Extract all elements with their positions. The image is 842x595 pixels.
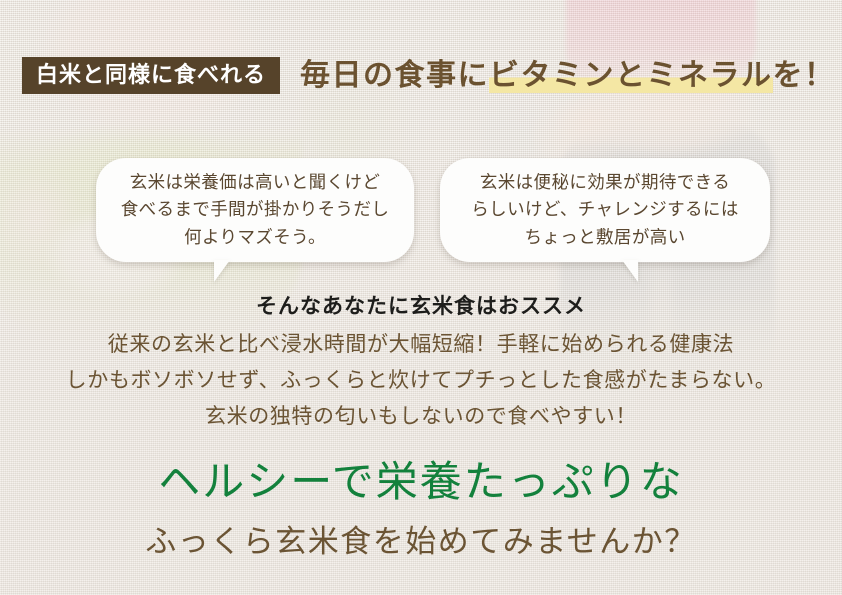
bubble-line: 玄米は便秘に効果が期待できる <box>471 169 738 196</box>
header-row: 白米と同様に食べれる 毎日の食事にビタミンとミネラルを！ <box>0 57 842 94</box>
bubble-line: 何よりマズそう。 <box>121 224 390 251</box>
speech-bubble-left: 玄米は栄養価は高いと聞くけど 食べるまで手間が掛かりそうだし 何よりマズそう。 <box>96 158 414 262</box>
bubble-line: 食べるまで手間が掛かりそうだし <box>121 196 390 223</box>
bubble-line: らしいけど、チャレンジするには <box>471 196 738 223</box>
headline-prefix: 毎日の食事に <box>300 59 489 92</box>
body-line-1: 従来の玄米と比べ浸水時間が大幅短縮！手軽に始められる健康法 <box>0 333 842 357</box>
headline-suffix: を！ <box>773 59 836 92</box>
badge-white-rice: 白米と同様に食べれる <box>22 57 280 94</box>
body-line-3: 玄米の独特の匂いもしないので食べやすい！ <box>0 405 842 429</box>
closing-headline-brown: ふっくら玄米食を始めてみませんか？ <box>0 525 842 559</box>
bubble-line: ちょっと敷居が高い <box>471 224 738 251</box>
closing-headline-green: ヘルシーで栄養たっぷりな <box>0 459 842 505</box>
speech-bubble-right: 玄米は便秘に効果が期待できる らしいけど、チャレンジするには ちょっと敷居が高い <box>440 158 770 262</box>
speech-bubble-left-text: 玄米は栄養価は高いと聞くけど 食べるまで手間が掛かりそうだし 何よりマズそう。 <box>107 169 404 250</box>
speech-bubble-left-tail <box>214 260 230 282</box>
page-title: 毎日の食事にビタミンとミネラルを！ <box>300 61 836 91</box>
speech-bubble-right-tail <box>622 260 638 282</box>
body-line-2: しかもボソボソせず、ふっくらと炊けてプチっとした食感がたまらない。 <box>0 369 842 393</box>
speech-bubble-right-text: 玄米は便秘に効果が期待できる らしいけど、チャレンジするには ちょっと敷居が高い <box>457 169 752 250</box>
bubble-line: 玄米は栄養価は高いと聞くけど <box>121 169 390 196</box>
banner-content: 白米と同様に食べれる 毎日の食事にビタミンとミネラルを！ 玄米は栄養価は高いと聞… <box>0 0 842 595</box>
subheading: そんなあなたに玄米食はおススメ <box>0 290 842 320</box>
headline-highlight: ビタミンとミネラル <box>489 59 773 93</box>
body-copy: 従来の玄米と比べ浸水時間が大幅短縮！手軽に始められる健康法 しかもボソボソせず、… <box>0 333 842 429</box>
promo-banner: 白米と同様に食べれる 毎日の食事にビタミンとミネラルを！ 玄米は栄養価は高いと聞… <box>0 0 842 595</box>
